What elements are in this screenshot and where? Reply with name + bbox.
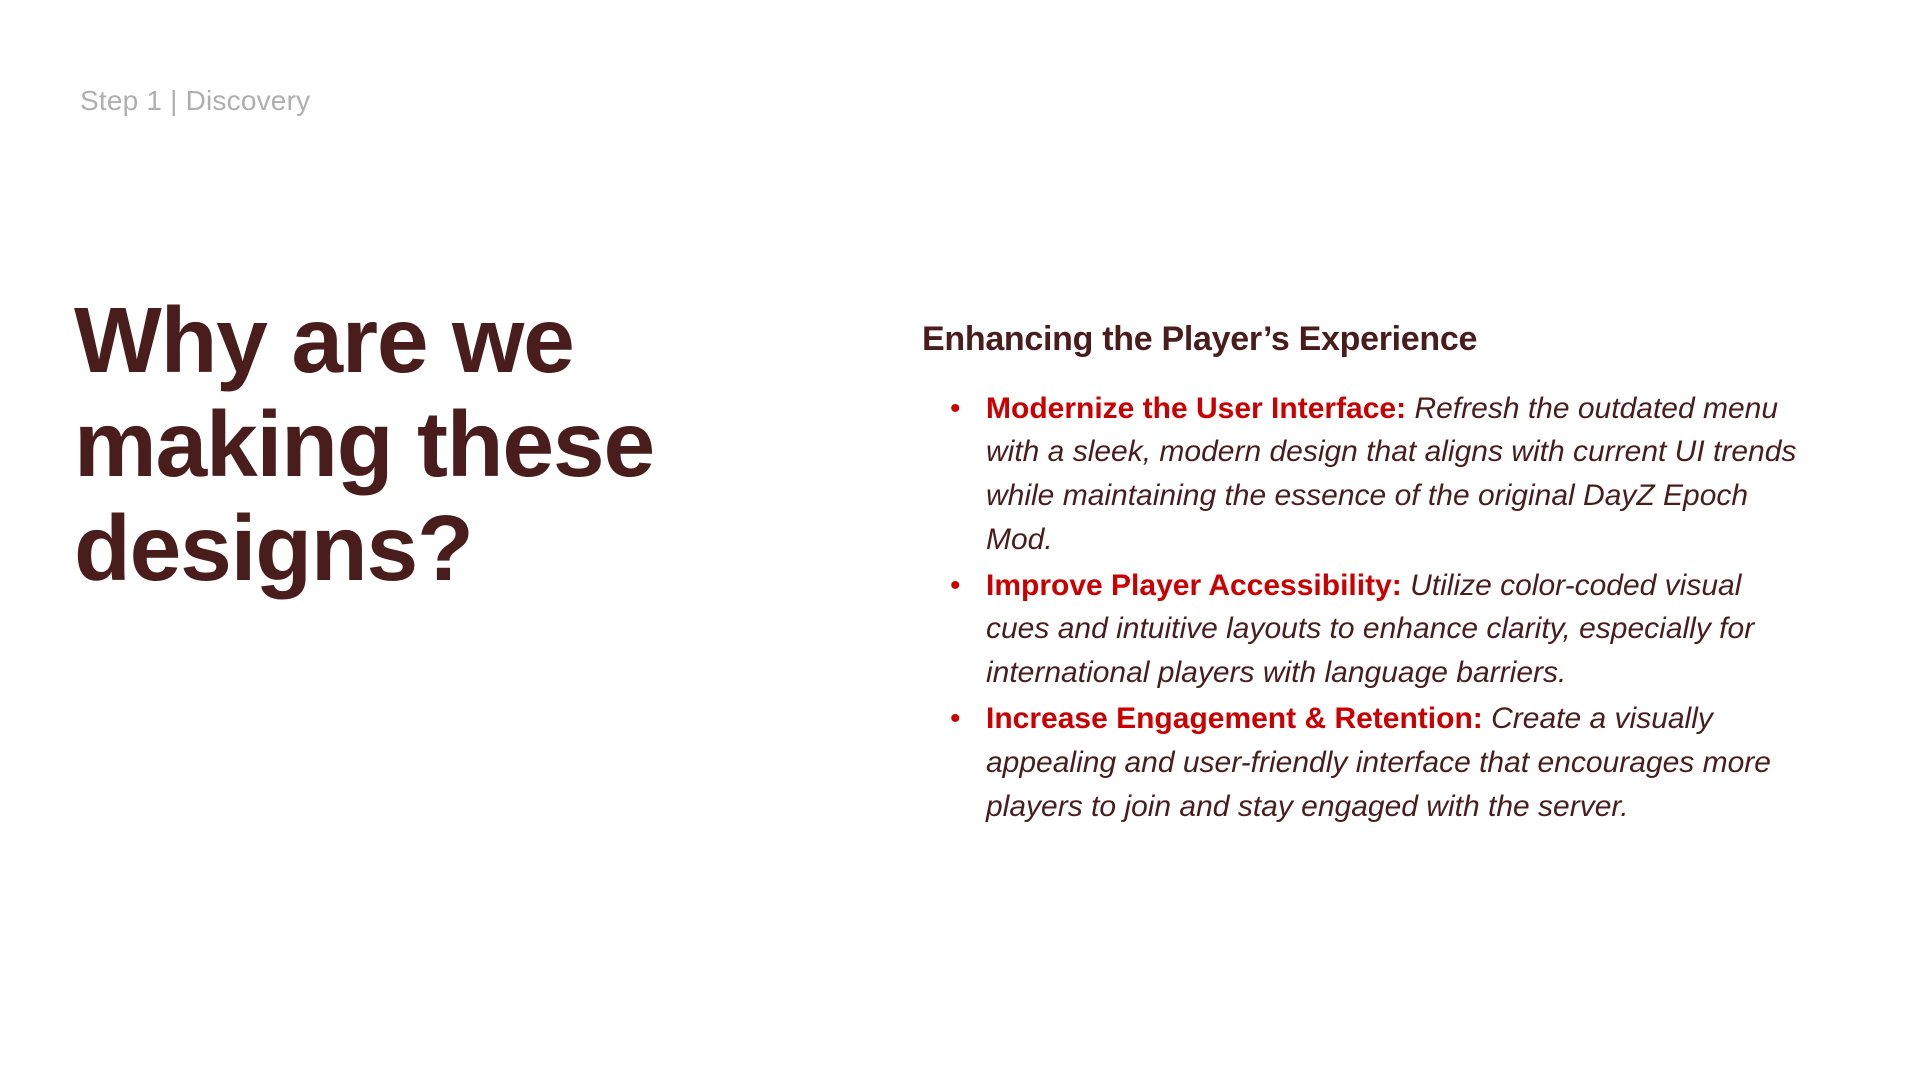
page-title: Why are we making these designs?	[74, 288, 834, 600]
list-item: • Modernize the User Interface: Refresh …	[946, 387, 1812, 562]
step-label: Step 1 | Discovery	[80, 84, 310, 118]
bullet-point-icon: •	[950, 697, 970, 741]
content-heading: Enhancing the Player’s Experience	[922, 318, 1812, 361]
content-column: Enhancing the Player’s Experience • Mode…	[922, 318, 1812, 830]
bullet-lead-label: Improve Player Accessibility:	[986, 569, 1402, 602]
page-title-line-1: Why are we	[74, 288, 834, 392]
presentation-slide: Step 1 | Discovery Why are we making the…	[0, 0, 1920, 1080]
bullet-point-icon: •	[950, 564, 970, 608]
bullet-lead-label: Modernize the User Interface:	[986, 392, 1406, 425]
page-title-line-2: making these	[74, 392, 834, 496]
objectives-list: • Modernize the User Interface: Refresh …	[922, 387, 1812, 829]
bullet-lead-label: Increase Engagement & Retention:	[986, 702, 1483, 735]
list-item: • Increase Engagement & Retention: Creat…	[946, 697, 1812, 828]
list-item: • Improve Player Accessibility: Utilize …	[946, 564, 1812, 695]
page-title-line-3: designs?	[74, 496, 834, 600]
bullet-point-icon: •	[950, 387, 970, 431]
